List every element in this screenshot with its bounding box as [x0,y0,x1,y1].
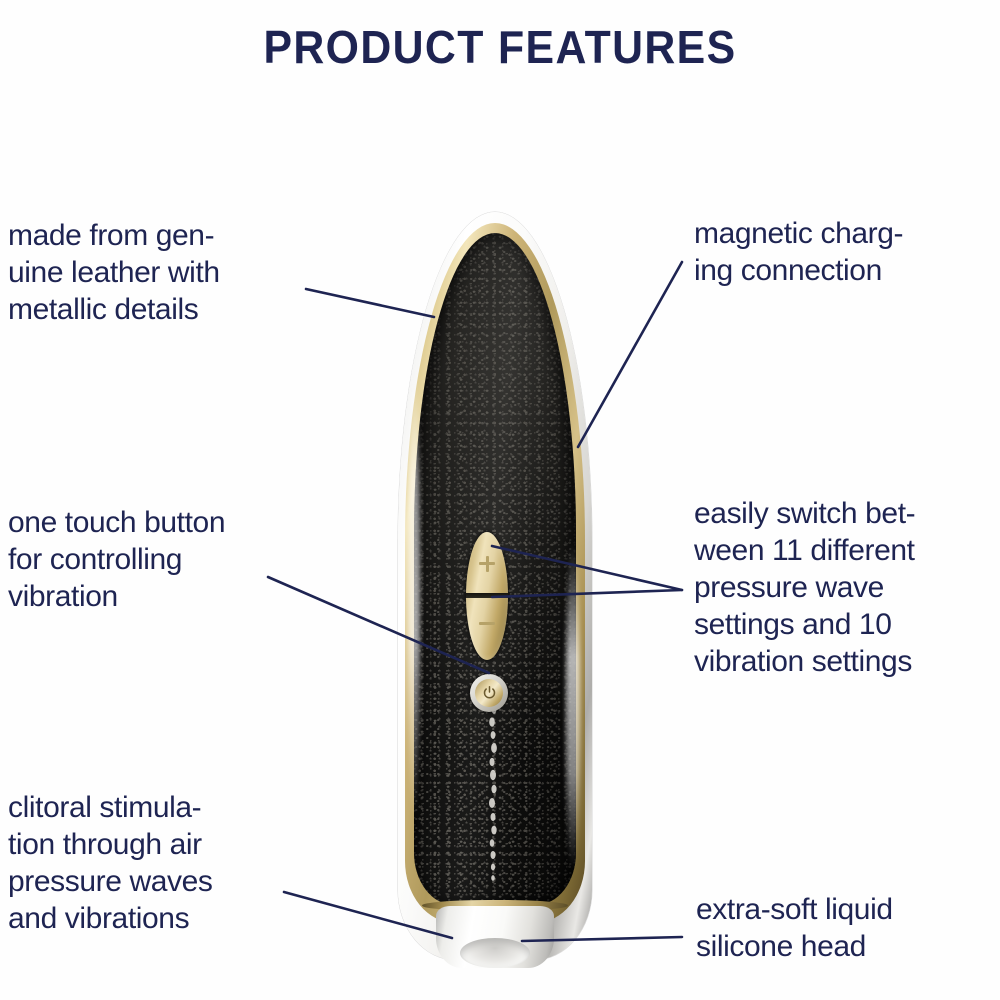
product-device-illustration [398,212,592,960]
callout-line: made from gen- [8,218,220,255]
product-features-infographic: PRODUCT FEATURES [0,0,1000,1000]
callout-clitoral-stimulation: clitoral stimula- tion through air press… [8,790,213,938]
callout-line: uine leather with [8,255,220,292]
callout-line: ween 11 different [694,533,915,570]
callout-one-touch-button: one touch button for controlling vibrati… [8,505,225,616]
callout-line: one touch button [8,505,225,542]
callout-line: extra-soft liquid [696,892,893,929]
callout-line: easily switch bet- [694,496,915,533]
body-highlight-left [408,362,420,822]
leader-line-magnetic [578,262,682,447]
callout-line: pressure waves [8,864,213,901]
callout-line: for controlling [8,542,225,579]
callout-line: ing connection [694,253,903,290]
callout-made-from-genuine-leather: made from gen- uine leather with metalli… [8,218,220,329]
plus-icon-vertical [486,556,489,572]
rocker-button-divider [466,593,508,598]
callout-line: and vibrations [8,901,213,938]
callout-line: vibration settings [694,644,915,681]
callout-line: magnetic charg- [694,216,903,253]
page-title: PRODUCT FEATURES [35,20,965,74]
callout-pressure-wave-settings: easily switch bet- ween 11 different pre… [694,496,915,680]
air-pulse-nozzle [460,938,530,968]
callout-line: clitoral stimula- [8,790,213,827]
power-icon [483,686,496,699]
callout-line: tion through air [8,827,213,864]
body-highlight-right [566,542,580,872]
callout-line: settings and 10 [694,607,915,644]
callout-extra-soft-liquid-silicone-head: extra-soft liquid silicone head [696,892,893,966]
minus-icon [479,622,495,625]
callout-line: silicone head [696,929,893,966]
callout-line: vibration [8,579,225,616]
callout-line: metallic details [8,292,220,329]
callout-magnetic-charging: magnetic charg- ing connection [694,216,903,290]
stingray-spine-pearls [484,682,502,887]
callout-line: pressure wave [694,570,915,607]
